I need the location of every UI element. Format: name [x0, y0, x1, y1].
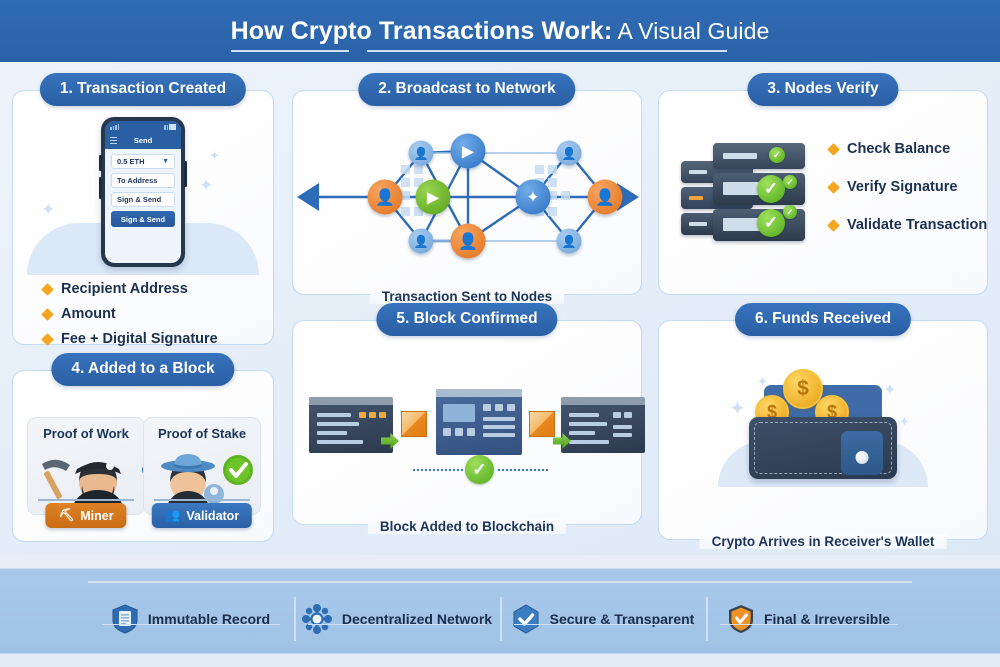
- footer-item-decentralized-network[interactable]: Decentralized Network: [294, 593, 500, 645]
- phone-screen: Send 0.5 ETH ▼ To Address Sign & Send: [105, 121, 181, 263]
- network-node-user-orange-icon: 👤: [368, 180, 403, 215]
- step-card-2[interactable]: 2. Broadcast to Network: [292, 90, 642, 295]
- sign-send-value: Sign & Send: [117, 195, 161, 204]
- dotted-line: [498, 469, 548, 471]
- wallet-strap: [841, 431, 883, 475]
- bullet-label: Verify Signature: [847, 179, 957, 195]
- bullet-label: Validate Transaction: [847, 217, 987, 233]
- step-1-bullets: Recipient Address Amount Fee + Digital S…: [43, 281, 218, 347]
- page-title-light: A Visual Guide: [612, 18, 769, 44]
- diamond-bullet-icon: [827, 181, 840, 194]
- list-item: Validate Transaction: [829, 217, 987, 233]
- step-5-caption: Block Added to Blockchain: [368, 519, 566, 534]
- diamond-bullet-icon: [827, 219, 840, 232]
- menu-icon[interactable]: [110, 137, 117, 144]
- footer-item-final-irreversible[interactable]: Final & Irreversible: [706, 593, 912, 645]
- blockchain-illustration: ✓: [293, 371, 641, 481]
- check-icon: ✓: [769, 147, 785, 163]
- footer-band: Immutable Record Decentralized Network: [0, 555, 1000, 667]
- validator-tag-label: Validator: [186, 509, 239, 523]
- phone-statusbar: [105, 121, 181, 132]
- ground-line: [38, 499, 134, 501]
- wallet-body: [749, 417, 897, 479]
- appbar-title: Send: [134, 136, 152, 145]
- block-middle: [436, 389, 522, 455]
- footer-item-secure-transparent[interactable]: Secure & Transparent: [500, 593, 706, 645]
- network-node-play-icon: ▶: [451, 134, 486, 169]
- pickaxe-icon: ⛏: [58, 508, 74, 523]
- miner-tag-label: Miner: [80, 509, 113, 523]
- steps-stage: 1. Transaction Created ✦ ✦ ✦: [0, 62, 1000, 552]
- network-node-user-icon: 👤: [409, 141, 434, 166]
- miner-tag: ⛏ Miner: [45, 503, 126, 528]
- sparkle-icon: ✦: [729, 399, 746, 419]
- proof-of-stake-title: Proof of Stake: [144, 426, 260, 441]
- title-wrap: How Crypto Transactions Work: A Visual G…: [231, 17, 770, 46]
- step-5-badge: 5. Block Confirmed: [376, 303, 557, 336]
- network-illustration: 👤 ▶ 👤 👤 ▶ ✦ 👤 👤 👤 👤: [293, 129, 641, 264]
- step-3-badge: 3. Nodes Verify: [747, 73, 898, 106]
- phone-mockup: Send 0.5 ETH ▼ To Address Sign & Send: [101, 117, 185, 267]
- step-card-3[interactable]: 3. Nodes Verify ✓ ✓ ✓ ✓: [658, 90, 988, 295]
- bullet-label: Fee + Digital Signature: [61, 331, 218, 347]
- person-icon: 👥: [165, 508, 181, 523]
- battery-icon: [164, 124, 176, 130]
- block-left: [309, 397, 393, 453]
- page-header: How Crypto Transactions Work: A Visual G…: [0, 0, 1000, 62]
- sparkle-icon: ✦: [899, 415, 910, 428]
- footer-underline: [720, 624, 898, 626]
- step-4-badge: 4. Added to a Block: [51, 353, 234, 386]
- sign-send-button[interactable]: Sign & Send: [111, 211, 175, 227]
- sparkle-icon: ✦: [757, 375, 768, 388]
- footer-underline: [102, 624, 280, 626]
- step-6-caption: Crypto Arrives in Receiver's Wallet: [700, 534, 947, 549]
- footer-underline: [514, 624, 692, 626]
- connector-arrow-icon: [401, 411, 427, 437]
- amount-select[interactable]: 0.5 ETH ▼: [111, 154, 175, 169]
- network-node-user-icon: 👤: [557, 229, 582, 254]
- title-underline-short: [231, 50, 349, 52]
- step-card-4[interactable]: 4. Added to a Block Proof of Work ⛏ Mi: [12, 370, 274, 542]
- shield-check-blue-icon: [512, 604, 540, 634]
- network-nodes-icon: [302, 604, 332, 634]
- shield-check-orange-icon: [728, 604, 754, 634]
- phone-button-icon: [99, 155, 102, 171]
- block-right: [561, 397, 645, 453]
- wallet-clasp-icon: [856, 451, 869, 464]
- title-underline-long: [367, 50, 727, 52]
- network-node-user-icon: 👤: [557, 141, 582, 166]
- block-face: [309, 405, 393, 453]
- diamond-bullet-icon: [41, 333, 54, 346]
- chevron-down-icon: ▼: [162, 158, 169, 165]
- footer-underline: [308, 624, 486, 626]
- proof-of-work-subcard: Proof of Work ⛏ Miner: [27, 417, 145, 515]
- validator-tag: 👥 Validator: [152, 503, 252, 528]
- server-racks-illustration: ✓ ✓ ✓ ✓ ✓: [681, 135, 811, 250]
- diamond-bullet-icon: [41, 283, 54, 296]
- network-node-play-green-icon: ▶: [416, 180, 451, 215]
- list-item: Recipient Address: [43, 281, 218, 297]
- diamond-bullet-icon: [827, 143, 840, 156]
- bullet-label: Amount: [61, 306, 116, 322]
- rack-leds-icon: [689, 222, 707, 226]
- rack-leds-icon: [689, 196, 703, 200]
- list-item: Check Balance: [829, 141, 987, 157]
- check-icon-large: ✓: [757, 175, 785, 203]
- dotted-line: [413, 469, 463, 471]
- page-title: How Crypto Transactions Work: A Visual G…: [231, 17, 770, 46]
- proof-of-stake-subcard: Proof of Stake 👥 Valid: [143, 417, 261, 515]
- block-face: [561, 405, 645, 453]
- proof-of-work-title: Proof of Work: [28, 426, 144, 441]
- step-card-1[interactable]: 1. Transaction Created ✦ ✦ ✦: [12, 90, 274, 345]
- phone-button-icon: [184, 161, 187, 187]
- rack-leds-icon: [689, 170, 707, 174]
- network-node-user-icon: 👤: [409, 229, 434, 254]
- check-icon: ✓: [783, 205, 797, 219]
- sign-send-input[interactable]: Sign & Send: [111, 192, 175, 207]
- phone-button-icon: [99, 177, 102, 199]
- list-item: Fee + Digital Signature: [43, 331, 218, 347]
- bullet-label: Recipient Address: [61, 281, 188, 297]
- to-address-value: To Address: [117, 176, 157, 185]
- sparkle-icon: ✦: [41, 201, 55, 218]
- step-2-caption: Transaction Sent to Nodes: [370, 289, 564, 304]
- diamond-bullet-icon: [41, 308, 54, 321]
- shield-document-icon: [112, 604, 138, 634]
- step-card-6[interactable]: 6. Funds Received ✦ ✦ ✦ ✦ $ $ $ Crypto A…: [658, 320, 988, 540]
- footer-items: Immutable Record Decentralized Network: [88, 593, 912, 645]
- phone-appbar: Send: [105, 132, 181, 149]
- signal-icon: [110, 124, 119, 130]
- block-face: [436, 397, 522, 455]
- check-icon-large: ✓: [757, 209, 785, 237]
- footer-rule-top: [88, 581, 912, 583]
- sparkle-icon: ✦: [209, 149, 220, 162]
- sparkle-icon: ✦: [199, 177, 213, 194]
- step-3-bullets: Check Balance Verify Signature Validate …: [829, 141, 987, 233]
- step-6-badge: 6. Funds Received: [735, 303, 911, 336]
- check-icon-large: ✓: [465, 455, 494, 484]
- step-1-badge: 1. Transaction Created: [40, 73, 246, 106]
- step-2-badge: 2. Broadcast to Network: [358, 73, 575, 106]
- ground-line: [154, 499, 250, 501]
- step-card-5[interactable]: 5. Block Confirmed: [292, 320, 642, 525]
- footer-item-immutable-record[interactable]: Immutable Record: [88, 593, 294, 645]
- phone-form: 0.5 ETH ▼ To Address Sign & Send Sign & …: [105, 149, 181, 232]
- bullet-label: Check Balance: [847, 141, 950, 157]
- amount-value: 0.5 ETH: [117, 157, 145, 166]
- sparkle-icon: ✦: [883, 383, 896, 399]
- rack-leds-icon: [723, 153, 757, 159]
- server-rack-front: [713, 143, 805, 169]
- step-1-illustration: ✦ ✦ ✦: [13, 115, 273, 275]
- network-node-user-orange-icon: 👤: [588, 180, 623, 215]
- network-node-sparkle-icon: ✦: [516, 180, 551, 215]
- check-icon: ✓: [783, 175, 797, 189]
- list-item: Amount: [43, 306, 218, 322]
- network-node-user-orange-icon: 👤: [451, 224, 486, 259]
- to-address-input[interactable]: To Address: [111, 173, 175, 188]
- page-title-bold: How Crypto Transactions Work:: [231, 17, 613, 45]
- wallet-illustration: ✦ ✦ ✦ ✦ $ $ $: [659, 361, 987, 489]
- connector-arrow-icon: [529, 411, 555, 437]
- list-item: Verify Signature: [829, 179, 987, 195]
